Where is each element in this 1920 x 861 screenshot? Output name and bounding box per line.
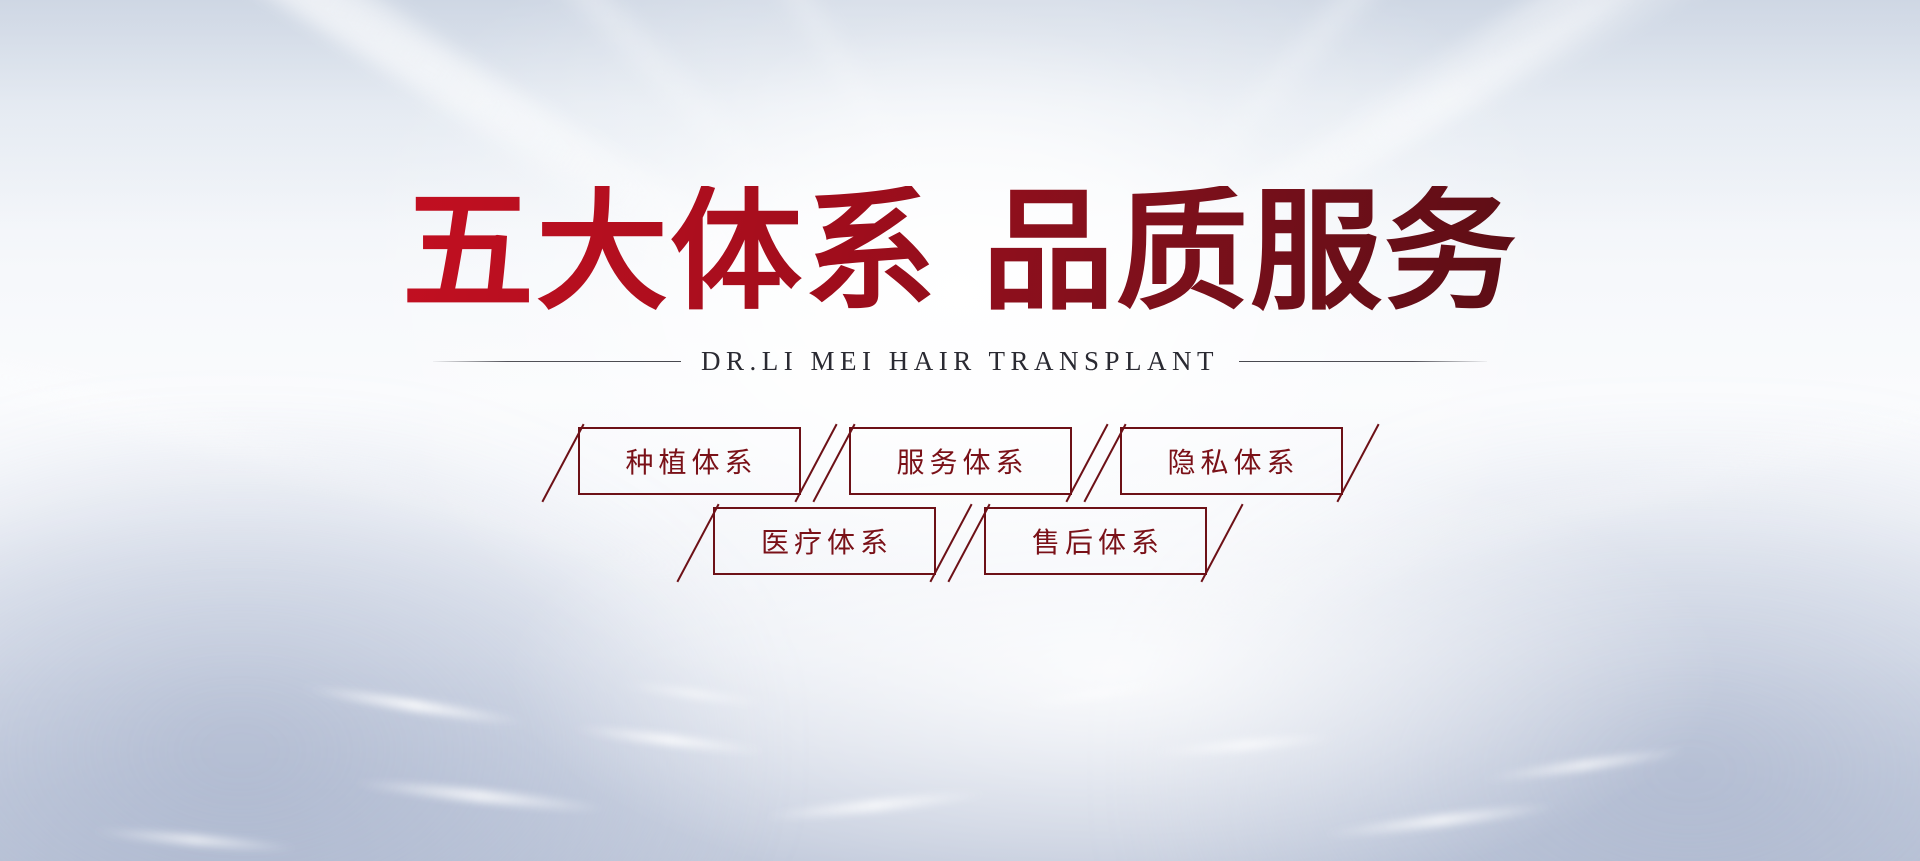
slash-right-icon (929, 504, 972, 583)
badge-item[interactable]: 服务体系 (849, 427, 1072, 495)
badge-row-1: 种植体系 服务体系 隐私体系 (578, 427, 1343, 495)
slash-right-icon (1200, 504, 1243, 583)
badge-group: 种植体系 服务体系 隐私体系 医疗体系 (578, 427, 1343, 575)
slash-right-icon (794, 424, 837, 503)
subtitle-rule-left (433, 361, 681, 362)
badge-item[interactable]: 隐私体系 (1120, 427, 1343, 495)
page-title: 五大体系品质服务 (402, 186, 1518, 318)
badge-item[interactable]: 医疗体系 (713, 507, 936, 575)
slash-right-icon (1065, 424, 1108, 503)
badge-label: 医疗体系 (756, 521, 893, 561)
badge-label: 售后体系 (1027, 521, 1164, 561)
headline-part-right: 品质服务 (982, 174, 1518, 329)
badge-label: 种植体系 (620, 441, 757, 481)
slash-right-icon (1336, 424, 1379, 503)
slash-left-icon (947, 504, 990, 583)
badge-label: 服务体系 (891, 441, 1028, 481)
slash-left-icon (812, 424, 855, 503)
badge-label: 隐私体系 (1162, 441, 1299, 481)
slash-left-icon (676, 504, 719, 583)
subtitle-row: DR.LI MEI HAIR TRANSPLANT (433, 346, 1487, 377)
slash-left-icon (541, 424, 584, 503)
badge-item[interactable]: 售后体系 (984, 507, 1207, 575)
subtitle-text: DR.LI MEI HAIR TRANSPLANT (701, 346, 1219, 377)
subtitle-rule-right (1239, 361, 1487, 362)
badge-item[interactable]: 种植体系 (578, 427, 801, 495)
headline-part-left: 五大体系 (402, 174, 938, 329)
slash-left-icon (1083, 424, 1126, 503)
banner-content: 五大体系品质服务 DR.LI MEI HAIR TRANSPLANT 种植体系 … (0, 0, 1920, 861)
badge-row-2: 医疗体系 售后体系 (713, 507, 1207, 575)
banner-canvas: 五大体系品质服务 DR.LI MEI HAIR TRANSPLANT 种植体系 … (0, 0, 1920, 861)
